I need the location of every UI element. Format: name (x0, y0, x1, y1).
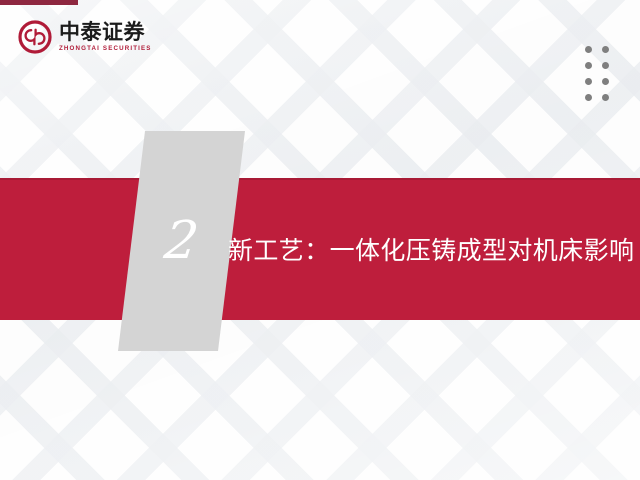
top-left-accent-bar (0, 0, 78, 5)
brand-logo: 中泰证券 ZHONGTAI SECURITIES (18, 20, 152, 54)
brand-logo-text: 中泰证券 ZHONGTAI SECURITIES (59, 22, 152, 52)
grid-dot (602, 62, 609, 69)
presentation-slide: 中泰证券 ZHONGTAI SECURITIES 2 新工艺：一体化压铸成型对机… (0, 0, 640, 480)
grid-dot (585, 94, 592, 101)
zhongtai-circle-logo-icon (18, 20, 52, 54)
grid-dot (585, 62, 592, 69)
brand-name-en: ZHONGTAI SECURITIES (59, 46, 152, 52)
grid-dot (602, 94, 609, 101)
brand-name-cn: 中泰证券 (59, 22, 152, 43)
grid-dot (602, 78, 609, 85)
section-title: 新工艺：一体化压铸成型对机床影响 (228, 178, 640, 320)
grid-dot (602, 46, 609, 53)
grid-dot (585, 46, 592, 53)
decorative-dot-grid (585, 46, 609, 101)
grid-dot (585, 78, 592, 85)
